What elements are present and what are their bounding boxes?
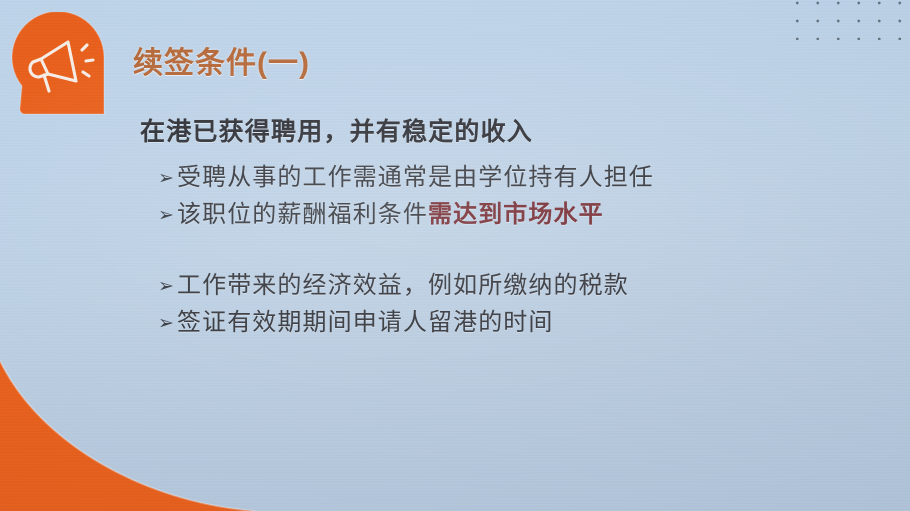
list-item-label: 该职位的薪酬福利条件需达到市场水平 — [177, 194, 604, 229]
lead-statement: 在港已获得聘用，并有稳定的收入 — [140, 112, 840, 148]
arrow-bullet-icon: ➢ — [158, 314, 177, 333]
megaphone-badge — [8, 12, 112, 120]
list-item-label: 工作带来的经济效益，例如所缴纳的税款 — [177, 265, 629, 300]
list-item-text: 工作带来的经济效益，例如所缴纳的税款 — [177, 272, 629, 299]
arrow-bullet-icon: ➢ — [158, 206, 177, 225]
list-item-emphasis: 需达到市场水平 — [428, 201, 604, 228]
presentation-slide: 续签条件(一) 在港已获得聘用，并有稳定的收入 ➢ 受聘从事的工作需通常是由学位… — [0, 0, 910, 511]
list-item: ➢ 工作带来的经济效益，例如所缴纳的税款 — [158, 265, 840, 302]
arrow-bullet-icon: ➢ — [158, 169, 177, 188]
list-item: ➢ 签证有效期期间申请人留港的时间 — [158, 302, 840, 339]
dot-grid-decoration — [787, 0, 910, 40]
list-gap — [140, 231, 840, 265]
page-title: 续签条件(一) — [133, 38, 310, 82]
list-item-text: 该职位的薪酬福利条件 — [177, 201, 428, 228]
slide-body: 在港已获得聘用，并有稳定的收入 ➢ 受聘从事的工作需通常是由学位持有人担任 ➢ … — [140, 112, 840, 339]
list-item-label: 受聘从事的工作需通常是由学位持有人担任 — [177, 157, 654, 192]
list-item-text: 签证有效期期间申请人留港的时间 — [177, 309, 554, 336]
orange-corner-swoosh — [0, 361, 310, 511]
list-item: ➢ 该职位的薪酬福利条件需达到市场水平 — [158, 194, 840, 231]
list-item-text: 受聘从事的工作需通常是由学位持有人担任 — [177, 164, 654, 191]
arrow-bullet-icon: ➢ — [158, 277, 177, 296]
list-item-label: 签证有效期期间申请人留港的时间 — [177, 302, 554, 337]
list-item: ➢ 受聘从事的工作需通常是由学位持有人担任 — [158, 157, 840, 194]
